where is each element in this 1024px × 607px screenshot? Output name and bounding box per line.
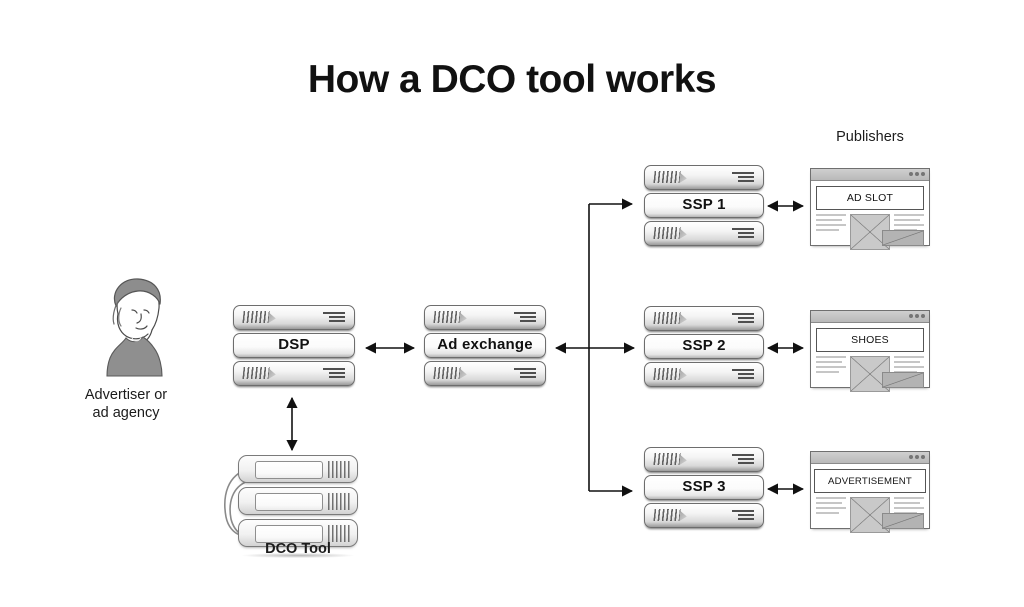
dco-tool-caption: DCO Tool (233, 540, 363, 558)
text-lines (816, 214, 846, 234)
page-title: How a DCO tool works (0, 58, 1024, 102)
image-placeholder-icon (882, 372, 924, 388)
advertiser-caption: Advertiser or ad agency (46, 386, 206, 422)
window-controls-icon (909, 314, 925, 318)
ssp2-unit-top (644, 306, 764, 331)
dsp-unit-top (233, 305, 355, 330)
ad-slot-label: SHOES (851, 334, 889, 346)
advertiser-caption-line1: Advertiser or (46, 386, 206, 404)
adex-unit-bottom (424, 361, 546, 386)
drive-indicator-icon (732, 510, 754, 521)
window-controls-icon (909, 172, 925, 176)
node-ssp-3[interactable]: SSP 3 (644, 447, 764, 531)
ssp1-label-unit: SSP 1 (644, 193, 764, 218)
dco-shelf-2 (238, 487, 358, 515)
advertiser-caption-line2: ad agency (46, 404, 206, 422)
drive-indicator-icon (732, 228, 754, 239)
drive-indicator-icon (732, 313, 754, 324)
drive-indicator-icon (323, 312, 345, 323)
ssp3-label-unit: SSP 3 (644, 475, 764, 500)
node-ad-exchange[interactable]: Ad exchange (424, 305, 546, 389)
browser-title-bar (811, 452, 929, 464)
ad-slot-banner: AD SLOT (816, 186, 924, 210)
text-lines (816, 497, 846, 517)
vent-icon (242, 367, 269, 379)
publisher-window-1[interactable]: AD SLOT (810, 168, 930, 246)
node-label: SSP 2 (682, 337, 725, 354)
node-ssp-2[interactable]: SSP 2 (644, 306, 764, 390)
node-ssp-1[interactable]: SSP 1 (644, 165, 764, 249)
vent-icon (653, 453, 680, 465)
text-lines (816, 356, 846, 376)
adex-label-unit: Ad exchange (424, 333, 546, 358)
node-label: SSP 1 (682, 196, 725, 213)
diagram-canvas: How a DCO tool works Advertiser or ad ag… (0, 0, 1024, 607)
dsp-unit-bottom (233, 361, 355, 386)
drive-indicator-icon (732, 454, 754, 465)
drive-indicator-icon (514, 312, 536, 323)
adex-unit-top (424, 305, 546, 330)
ad-slot-banner: SHOES (816, 328, 924, 352)
vent-icon (328, 493, 350, 510)
publisher-window-3[interactable]: ADVERTISEMENT (810, 451, 930, 529)
image-placeholder-icon (882, 513, 924, 529)
ssp2-label-unit: SSP 2 (644, 334, 764, 359)
publisher-window-2[interactable]: SHOES (810, 310, 930, 388)
ssp3-unit-top (644, 447, 764, 472)
drive-slot (255, 493, 323, 511)
vent-icon (433, 311, 460, 323)
node-dsp[interactable]: DSP (233, 305, 355, 389)
drive-indicator-icon (323, 368, 345, 379)
advertiser-icon (88, 268, 178, 378)
ad-slot-label: AD SLOT (847, 192, 893, 204)
vent-icon (653, 171, 680, 183)
ssp1-unit-top (644, 165, 764, 190)
node-label: SSP 3 (682, 478, 725, 495)
window-controls-icon (909, 455, 925, 459)
vent-icon (433, 367, 460, 379)
node-label: Ad exchange (437, 336, 533, 353)
drive-indicator-icon (732, 172, 754, 183)
vent-icon (653, 368, 680, 380)
publishers-heading: Publishers (810, 128, 930, 146)
drive-slot (255, 461, 323, 479)
image-placeholder-icon (882, 230, 924, 246)
vent-icon (653, 312, 680, 324)
node-dco-tool[interactable] (238, 455, 358, 551)
vent-icon (653, 509, 680, 521)
dco-shelf-1 (238, 455, 358, 483)
browser-title-bar (811, 169, 929, 181)
ssp2-unit-bottom (644, 362, 764, 387)
vent-icon (328, 461, 350, 478)
browser-title-bar (811, 311, 929, 323)
ssp1-unit-bottom (644, 221, 764, 246)
vent-icon (242, 311, 269, 323)
vent-icon (653, 227, 680, 239)
ad-slot-banner: ADVERTISEMENT (814, 469, 926, 493)
drive-indicator-icon (732, 369, 754, 380)
dsp-label-unit: DSP (233, 333, 355, 358)
ssp3-unit-bottom (644, 503, 764, 528)
drive-indicator-icon (514, 368, 536, 379)
node-label: DSP (278, 336, 309, 353)
ad-slot-label: ADVERTISEMENT (828, 476, 912, 487)
